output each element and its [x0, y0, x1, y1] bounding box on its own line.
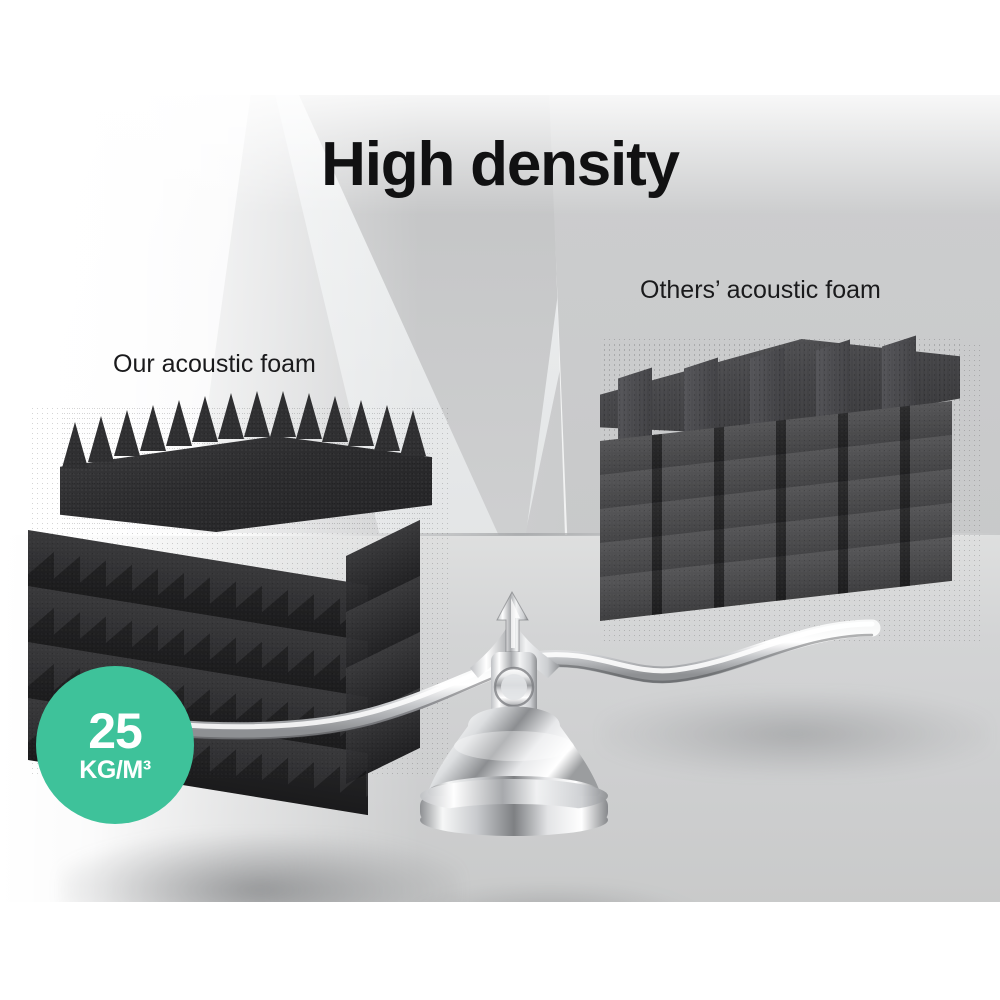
page-title: High density — [0, 134, 1000, 196]
density-badge-unit: KG/M³ — [79, 758, 151, 783]
label-our-foam: Our acoustic foam — [113, 350, 316, 379]
density-badge-value: 25 — [88, 707, 142, 756]
label-others-foam: Others’ acoustic foam — [640, 276, 881, 305]
scale-arm-left — [168, 661, 508, 739]
density-badge: 25 KG/M³ — [36, 666, 194, 824]
scale-arm-right — [534, 624, 872, 682]
product-marketing-image: High density Our acoustic foam Others’ a… — [0, 0, 1000, 1000]
bottom-white-band — [0, 902, 1000, 1000]
scale-pivot-hub-inner — [501, 674, 527, 700]
scale-base — [420, 707, 608, 837]
